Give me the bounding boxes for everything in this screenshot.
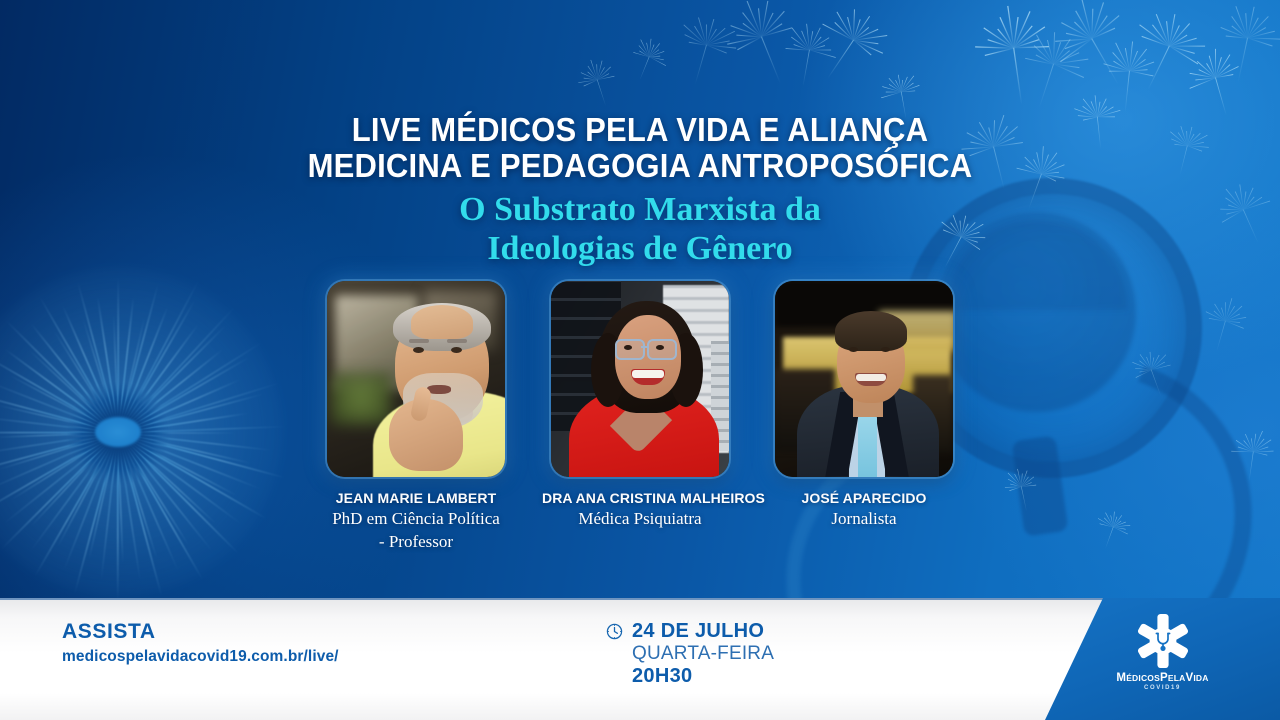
logo-word1-cap: M [1116,672,1126,684]
speaker-role-line1: Jornalista [766,508,962,529]
event-subtitle: O Substrato Marxista da Ideologias de Gê… [0,190,1280,268]
poster-canvas: LIVE MÉDICOS PELA VIDA E ALIANÇA MEDICIN… [0,0,1280,720]
star-of-life-icon [1045,612,1280,670]
speaker-name: JEAN MARIE LAMBERT [318,490,514,506]
event-weekday: QUARTA-FEIRA [632,642,774,665]
event-time: 20H30 [632,665,774,688]
logo-tagline: COVID19 [1045,685,1280,691]
brand-logo-panel: MÉDICOSPELAVIDA COVID19 [1045,598,1280,720]
event-title: LIVE MÉDICOS PELA VIDA E ALIANÇA MEDICIN… [38,112,1241,184]
logo-word2-cap: P [1160,672,1168,684]
event-subtitle-line1: O Substrato Marxista da [459,191,821,228]
speaker-card-3: JOSÉ APARECIDO Jornalista [766,281,962,529]
speaker-card-2: DRA ANA CRISTINA MALHEIROS Médica Psiqui… [542,281,738,529]
watch-url[interactable]: medicospelavidacovid19.com.br/live/ [62,648,339,666]
schedule-block: 24 DE JULHO QUARTA-FEIRA 20H30 [606,620,774,688]
logo-word1-rest: ÉDICOS [1126,673,1160,683]
watch-label: ASSISTA [62,620,339,644]
event-subtitle-line2: Ideologias de Gênero [0,229,1280,268]
speaker-role-line1: PhD em Ciência Política [318,508,514,529]
footer-bar: ASSISTA medicospelavidacovid19.com.br/li… [0,598,1280,720]
speaker-name: DRA ANA CRISTINA MALHEIROS [542,490,738,506]
watch-block: ASSISTA medicospelavidacovid19.com.br/li… [62,620,339,666]
event-title-line1: LIVE MÉDICOS PELA VIDA E ALIANÇA [352,111,928,148]
speaker-card-1: JEAN MARIE LAMBERT PhD em Ciência Políti… [318,281,514,552]
speaker-photo-ana-cristina-malheiros [551,281,729,477]
logo-word3-rest: IDA [1193,673,1208,683]
title-block: LIVE MÉDICOS PELA VIDA E ALIANÇA MEDICIN… [0,112,1280,268]
speaker-role-line2: - Professor [318,531,514,552]
speaker-name: JOSÉ APARECIDO [766,490,962,506]
speaker-role-line1: Médica Psiquiatra [542,508,738,529]
logo-word2-rest: ELA [1168,673,1186,683]
footer-top-rule [0,598,1280,600]
event-date: 24 DE JULHO [632,620,774,642]
brand-wordmark: MÉDICOSPELAVIDA COVID19 [1045,672,1280,691]
speaker-photo-jean-marie-lambert [327,281,505,477]
speaker-list: JEAN MARIE LAMBERT PhD em Ciência Políti… [0,281,1280,552]
clock-icon [606,623,623,645]
speaker-photo-jose-aparecido [775,281,953,477]
event-title-line2: MEDICINA E PEDAGOGIA ANTROPOSÓFICA [38,148,1241,184]
